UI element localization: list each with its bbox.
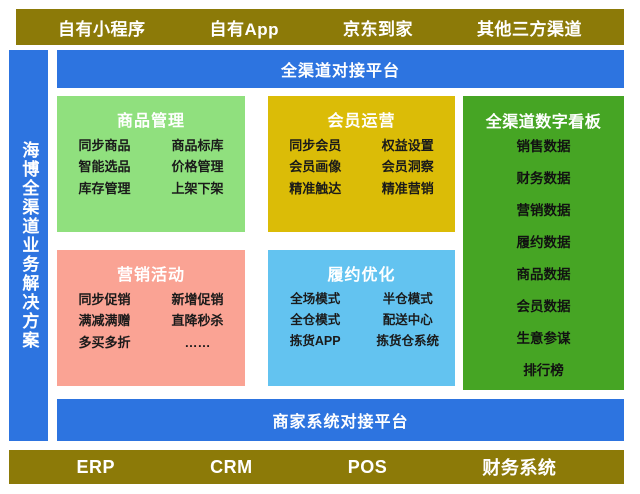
channel-item-mini-program: 自有小程序 [58, 15, 146, 40]
dashboard-item: 商品数据 [517, 268, 571, 282]
dashboard-item: 排行榜 [523, 364, 564, 378]
card-item: 权益设置 [382, 139, 434, 153]
sidebar-solution-banner: 海博全渠道业务解决方案 [9, 50, 48, 441]
card-item: 全场模式 [290, 293, 340, 307]
merchant-system-platform-bar: 商家系统对接平台 [57, 399, 624, 441]
dashboard-item: 营销数据 [517, 204, 571, 218]
dashboard-item: 履约数据 [517, 236, 571, 250]
card-item: 会员洞察 [382, 160, 434, 174]
card-item: 同步促销 [78, 293, 130, 307]
dashboard-item: 财务数据 [517, 172, 571, 186]
dashboard-item: 生意参谋 [517, 332, 571, 346]
channel-bar: 自有小程序 自有App 京东到家 其他三方渠道 [16, 9, 624, 45]
system-item-crm: CRM [210, 457, 253, 478]
card-product-management: 商品管理 同步商品 商品标库 智能选品 价格管理 库存管理 上架下架 [57, 96, 245, 232]
sidebar-title: 海博全渠道业务解决方案 [18, 141, 40, 350]
card-item: 半仓模式 [383, 293, 433, 307]
card-item: 同步会员 [289, 139, 341, 153]
dashboard-title: 全渠道数字看板 [486, 108, 602, 132]
card-item: 智能选品 [78, 160, 130, 174]
card-item: 全仓模式 [290, 314, 340, 328]
card-item: 精准营销 [382, 182, 434, 196]
dashboard-panel: 全渠道数字看板 销售数据 财务数据 营销数据 履约数据 商品数据 会员数据 生意… [463, 96, 624, 390]
card-item: 拣货仓系统 [376, 335, 439, 349]
card-items-marketing-activities: 同步促销 新增促销 满减满赠 直降秒杀 多买多折 …… [61, 293, 241, 350]
card-item: 商品标库 [171, 139, 223, 153]
card-item: 精准触达 [289, 182, 341, 196]
system-item-finance: 财务系统 [482, 454, 556, 480]
card-item: 库存管理 [78, 182, 130, 196]
card-item: 拣货APP [290, 335, 341, 349]
card-marketing-activities: 营销活动 同步促销 新增促销 满减满赠 直降秒杀 多买多折 …… [57, 250, 245, 386]
card-item: …… [185, 336, 211, 350]
card-items-product-management: 同步商品 商品标库 智能选品 价格管理 库存管理 上架下架 [61, 139, 241, 196]
solution-architecture-diagram: 自有小程序 自有App 京东到家 其他三方渠道 海博全渠道业务解决方案 全渠道对… [0, 0, 640, 494]
card-item: 多买多折 [78, 336, 130, 350]
card-item: 价格管理 [171, 160, 223, 174]
dashboard-item: 销售数据 [517, 140, 571, 154]
merchant-system-platform-label: 商家系统对接平台 [272, 408, 408, 432]
card-title-product-management: 商品管理 [117, 107, 185, 131]
system-item-erp: ERP [77, 457, 116, 478]
card-items-fulfillment-optimization: 全场模式 半仓模式 全仓模式 配送中心 拣货APP 拣货仓系统 [272, 293, 451, 348]
card-items-member-operations: 同步会员 权益设置 会员画像 会员洞察 精准触达 精准营销 [272, 139, 451, 196]
card-item: 上架下架 [171, 182, 223, 196]
system-item-pos: POS [348, 457, 388, 478]
dashboard-item: 会员数据 [517, 300, 571, 314]
card-item: 同步商品 [78, 139, 130, 153]
card-item: 新增促销 [171, 293, 223, 307]
omnichannel-platform-bar: 全渠道对接平台 [57, 50, 624, 88]
card-title-fulfillment-optimization: 履约优化 [327, 261, 395, 285]
card-item: 满减满赠 [78, 314, 130, 328]
module-cards-area: 商品管理 同步商品 商品标库 智能选品 价格管理 库存管理 上架下架 会员运营 … [57, 96, 455, 390]
card-title-marketing-activities: 营销活动 [117, 261, 185, 285]
channel-item-other-third-party: 其他三方渠道 [477, 15, 582, 40]
omnichannel-platform-label: 全渠道对接平台 [281, 57, 400, 81]
card-member-operations: 会员运营 同步会员 权益设置 会员画像 会员洞察 精准触达 精准营销 [268, 96, 455, 232]
card-title-member-operations: 会员运营 [327, 107, 395, 131]
channel-item-own-app: 自有App [209, 15, 279, 40]
card-item: 直降秒杀 [171, 314, 223, 328]
card-item: 会员画像 [289, 160, 341, 174]
systems-bar: ERP CRM POS 财务系统 [9, 450, 624, 484]
channel-item-jd-daojia: 京东到家 [343, 15, 413, 40]
dashboard-item-list: 销售数据 财务数据 营销数据 履约数据 商品数据 会员数据 生意参谋 排行榜 [467, 138, 620, 384]
card-item: 配送中心 [383, 314, 433, 328]
card-fulfillment-optimization: 履约优化 全场模式 半仓模式 全仓模式 配送中心 拣货APP 拣货仓系统 [268, 250, 455, 386]
